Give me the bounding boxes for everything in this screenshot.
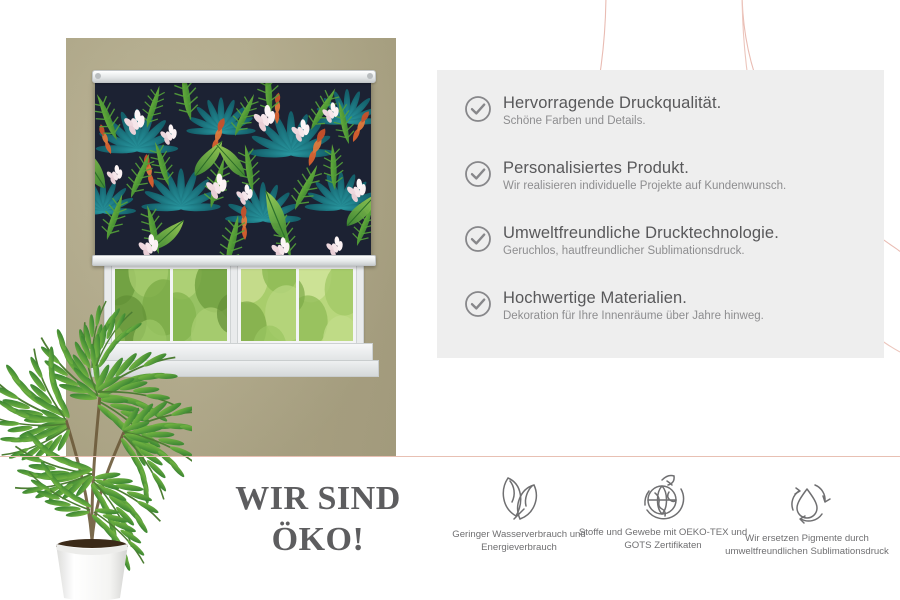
feature-item: Personalisiertes Produkt. Wir realisiere… (464, 159, 786, 193)
feature-title: Personalisiertes Produkt. (503, 160, 786, 177)
features-panel: Hervorragende Druckqualität. Schöne Farb… (437, 70, 884, 358)
feature-item: Hervorragende Druckqualität. Schöne Farb… (464, 94, 721, 128)
window-pane (241, 269, 296, 341)
eco-headline-line2: ÖKO! (228, 519, 408, 560)
check-circle-icon (464, 160, 492, 188)
check-circle-icon (464, 95, 492, 123)
eco-item: Wir ersetzen Pigmente durch umweltfreund… (722, 474, 892, 558)
eco-headline-line1: WIR SIND (228, 478, 408, 519)
feature-subtitle: Geruchlos, hautfreundlicher Sublimations… (503, 245, 779, 258)
accent-divider-line (0, 456, 900, 457)
check-circle-icon (464, 290, 492, 318)
feature-item: Hochwertige Materialien. Dekoration für … (464, 289, 764, 323)
promo-banner: Hervorragende Druckqualität. Schöne Farb… (0, 0, 900, 600)
water-drop-recycle-icon (722, 474, 892, 530)
check-circle-icon (464, 225, 492, 253)
blind-fabric-tropical-print (95, 80, 371, 258)
blind-roller-tube (92, 70, 376, 83)
eco-headline: WIR SIND ÖKO! (228, 478, 408, 561)
window-sash-right (237, 265, 357, 345)
roller-blind (92, 70, 374, 266)
feature-subtitle: Schöne Farben und Details. (503, 115, 721, 128)
feature-title: Hervorragende Druckqualität. (503, 95, 721, 112)
feature-item: Umweltfreundliche Drucktechnologie. Geru… (464, 224, 779, 258)
feature-title: Hochwertige Materialien. (503, 290, 764, 307)
blind-bottom-rail (92, 255, 376, 266)
eco-section: WIR SIND ÖKO! Geringer Wasserverbrauch u… (0, 462, 900, 600)
feature-title: Umweltfreundliche Drucktechnologie. (503, 225, 779, 242)
eco-caption: Wir ersetzen Pigmente durch umweltfreund… (722, 532, 892, 558)
feature-subtitle: Wir realisieren individuelle Projekte au… (503, 180, 786, 193)
window-pane (299, 269, 354, 341)
feature-subtitle: Dekoration für Ihre Innenräume über Jahr… (503, 310, 764, 323)
